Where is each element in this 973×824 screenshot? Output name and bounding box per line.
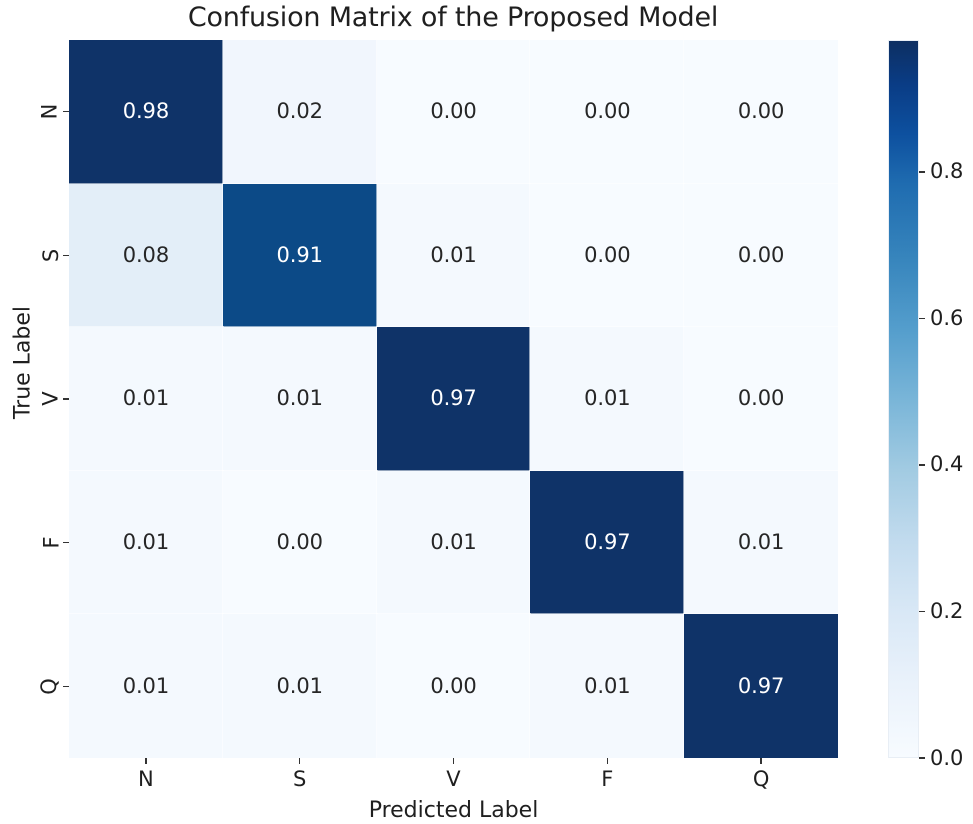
y-tick-label: F (41, 537, 62, 549)
matrix-cell-N-V: 0.00 (377, 40, 531, 184)
matrix-cell-value: 0.01 (584, 388, 630, 409)
colorbar-tick-mark (919, 171, 925, 172)
matrix-cell-S-F: 0.00 (530, 184, 684, 328)
matrix-cell-value: 0.08 (123, 245, 169, 266)
x-tick-mark (299, 758, 300, 764)
matrix-cell-N-Q: 0.00 (684, 40, 838, 184)
matrix-cell-S-Q: 0.00 (684, 184, 838, 328)
x-tick-mark (145, 758, 146, 764)
matrix-cell-Q-N: 0.01 (69, 614, 223, 758)
matrix-cell-value: 0.97 (584, 532, 630, 553)
y-tick-N: N (28, 40, 69, 184)
matrix-cell-N-S: 0.02 (223, 40, 377, 184)
matrix-cell-value: 0.91 (277, 245, 323, 266)
x-tick-Q: Q (684, 758, 838, 798)
colorbar-tick-label: 0.2 (930, 601, 963, 622)
y-tick-label: N (40, 104, 61, 120)
x-tick-S: S (223, 758, 377, 798)
heatmap-plot-area: 0.980.020.000.000.000.080.910.010.000.00… (69, 40, 838, 758)
y-tick-label: Q (39, 678, 60, 695)
colorbar-tick-group: 0.80.60.40.20.0 (888, 40, 973, 758)
matrix-cell-value: 0.00 (430, 101, 476, 122)
colorbar-tick-mark (919, 464, 925, 465)
x-tick-label: Q (753, 769, 770, 790)
matrix-cell-value: 0.01 (430, 532, 476, 553)
y-tick-mark (63, 255, 69, 256)
matrix-cell-value: 0.00 (584, 101, 630, 122)
matrix-cell-value: 0.98 (123, 101, 169, 122)
matrix-cell-F-S: 0.00 (223, 471, 377, 615)
matrix-cell-value: 0.02 (277, 101, 323, 122)
matrix-cell-F-F: 0.97 (530, 471, 684, 615)
x-tick-mark (760, 758, 761, 764)
matrix-cell-V-Q: 0.00 (684, 327, 838, 471)
x-tick-label: F (601, 769, 613, 790)
matrix-cell-value: 0.01 (123, 532, 169, 553)
matrix-cell-V-F: 0.01 (530, 327, 684, 471)
y-tick-mark (63, 398, 69, 399)
matrix-cell-value: 0.01 (123, 676, 169, 697)
y-tick-mark (63, 542, 69, 543)
matrix-cell-F-V: 0.01 (377, 471, 531, 615)
matrix-cell-value: 0.00 (738, 245, 784, 266)
matrix-cell-value: 0.00 (430, 676, 476, 697)
confusion-matrix-grid: 0.980.020.000.000.000.080.910.010.000.00… (69, 40, 838, 758)
x-tick-label: S (293, 769, 306, 790)
colorbar-tick-label: 0.4 (930, 454, 963, 475)
matrix-cell-N-N: 0.98 (69, 40, 223, 184)
chart-title: Confusion Matrix of the Proposed Model (0, 2, 906, 33)
matrix-cell-value: 0.01 (738, 532, 784, 553)
matrix-cell-value: 0.01 (277, 676, 323, 697)
matrix-cell-value: 0.97 (430, 388, 476, 409)
x-axis-tick-row: NSVFQ (69, 758, 838, 798)
matrix-cell-S-S: 0.91 (223, 184, 377, 328)
colorbar-tick-label: 0.8 (930, 161, 963, 182)
x-tick-mark (453, 758, 454, 764)
matrix-cell-value: 0.01 (123, 388, 169, 409)
y-tick-label: S (41, 249, 62, 262)
x-tick-F: F (530, 758, 684, 798)
matrix-cell-value: 0.01 (584, 676, 630, 697)
y-tick-Q: Q (28, 614, 69, 758)
x-tick-label: V (446, 769, 460, 790)
colorbar-tick-mark (919, 318, 925, 319)
matrix-cell-N-F: 0.00 (530, 40, 684, 184)
colorbar-tick-label: 0.0 (930, 748, 963, 769)
matrix-cell-value: 0.01 (277, 388, 323, 409)
x-axis-title: Predicted Label (69, 798, 838, 823)
matrix-cell-V-N: 0.01 (69, 327, 223, 471)
colorbar-tick-mark (919, 757, 925, 758)
matrix-cell-Q-F: 0.01 (530, 614, 684, 758)
x-tick-V: V (377, 758, 531, 798)
x-tick-N: N (69, 758, 223, 798)
x-tick-label: N (138, 769, 154, 790)
matrix-cell-value: 0.00 (738, 388, 784, 409)
matrix-cell-value: 0.01 (430, 245, 476, 266)
y-tick-F: F (28, 471, 69, 615)
matrix-cell-S-V: 0.01 (377, 184, 531, 328)
x-tick-mark (607, 758, 608, 764)
y-tick-label: V (40, 392, 61, 406)
matrix-cell-value: 0.00 (277, 532, 323, 553)
colorbar-tick-label: 0.6 (930, 308, 963, 329)
colorbar-tick-mark (919, 611, 925, 612)
matrix-cell-S-N: 0.08 (69, 184, 223, 328)
matrix-cell-value: 0.00 (584, 245, 630, 266)
matrix-cell-value: 0.97 (738, 676, 784, 697)
matrix-cell-Q-V: 0.00 (377, 614, 531, 758)
y-tick-mark (63, 111, 69, 112)
matrix-cell-V-S: 0.01 (223, 327, 377, 471)
y-tick-mark (63, 686, 69, 687)
matrix-cell-V-V: 0.97 (377, 327, 531, 471)
matrix-cell-F-N: 0.01 (69, 471, 223, 615)
y-axis-title: True Label (11, 293, 36, 433)
matrix-cell-F-Q: 0.01 (684, 471, 838, 615)
matrix-cell-Q-S: 0.01 (223, 614, 377, 758)
matrix-cell-Q-Q: 0.97 (684, 614, 838, 758)
matrix-cell-value: 0.00 (738, 101, 784, 122)
